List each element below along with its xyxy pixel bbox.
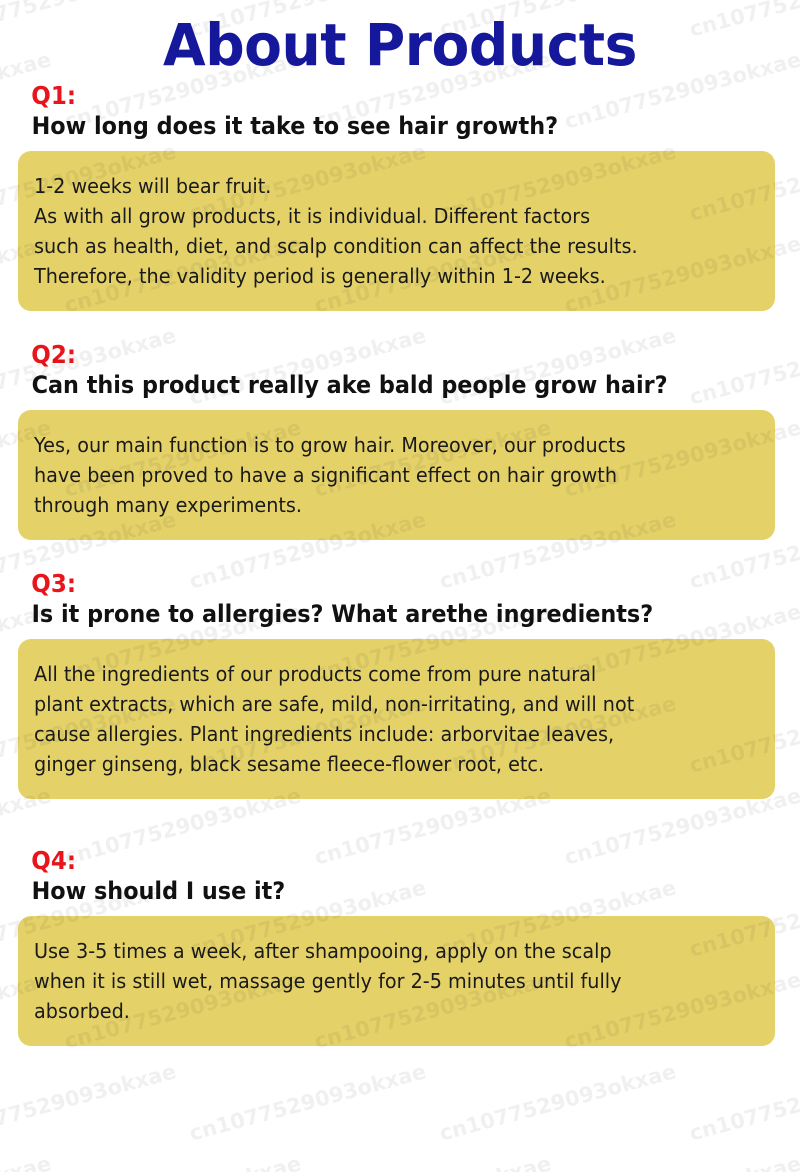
faq-content: About Products Q1: How long does it take…: [0, 0, 800, 1046]
watermark-text: cn1077529093okxae: [437, 1059, 679, 1145]
page-title: About Products: [20, 0, 780, 76]
answer-line: cause allergies. Plant ingredients inclu…: [34, 719, 730, 749]
watermark-text: cn1077529093okxae: [0, 1059, 179, 1145]
watermark-text: cn1077529093okxae: [687, 1059, 800, 1145]
question-label-1: Q1:: [0, 82, 736, 110]
answer-line: plant extracts, which are safe, mild, no…: [34, 689, 730, 719]
answer-line: ginger ginseng, black sesame fleece-flow…: [34, 749, 730, 779]
faq-item-1: Q1: How long does it take to see hair gr…: [0, 82, 800, 311]
answer-line: when it is still wet, massage gently for…: [34, 966, 730, 996]
answer-box-3: All the ingredients of our products come…: [18, 639, 775, 799]
answer-line: 1-2 weeks will bear fruit.: [34, 171, 730, 201]
faq-item-2: Q2: Can this product really ake bald peo…: [0, 341, 800, 540]
question-text-3: Is it prone to allergies? What arethe in…: [0, 598, 744, 630]
answer-line: have been proved to have a significant e…: [34, 460, 730, 490]
answer-line: absorbed.: [34, 996, 730, 1026]
answer-line: Yes, our main function is to grow hair. …: [34, 430, 730, 460]
answer-line: As with all grow products, it is individ…: [34, 201, 730, 231]
watermark-text: cn1077529093okxae: [312, 1151, 554, 1172]
question-text-4: How should I use it?: [0, 875, 744, 907]
question-label-3: Q3:: [0, 570, 736, 598]
faq-page: cn1077529093okxaecn1077529093okxaecn1077…: [0, 0, 800, 1172]
question-label-2: Q2:: [0, 341, 736, 369]
watermark-text: cn1077529093okxae: [187, 1059, 429, 1145]
question-text-1: How long does it take to see hair growth…: [0, 110, 744, 142]
question-label-4: Q4:: [0, 847, 736, 875]
watermark-text: cn1077529093okxae: [562, 1151, 800, 1172]
answer-line: All the ingredients of our products come…: [34, 659, 730, 689]
answer-line: such as health, diet, and scalp conditio…: [34, 231, 730, 261]
watermark-text: cn1077529093okxae: [62, 1151, 304, 1172]
faq-item-4: Q4: How should I use it? Use 3-5 times a…: [0, 847, 800, 1046]
question-text-2: Can this product really ake bald people …: [0, 369, 744, 401]
watermark-text: cn1077529093okxae: [0, 1151, 54, 1172]
answer-box-2: Yes, our main function is to grow hair. …: [18, 410, 775, 540]
answer-box-1: 1-2 weeks will bear fruit. As with all g…: [18, 151, 775, 311]
answer-line: through many experiments.: [34, 490, 730, 520]
answer-box-4: Use 3-5 times a week, after shampooing, …: [18, 916, 775, 1046]
answer-line: Use 3-5 times a week, after shampooing, …: [34, 936, 730, 966]
answer-line: Therefore, the validity period is genera…: [34, 261, 730, 291]
faq-item-3: Q3: Is it prone to allergies? What areth…: [0, 570, 800, 799]
